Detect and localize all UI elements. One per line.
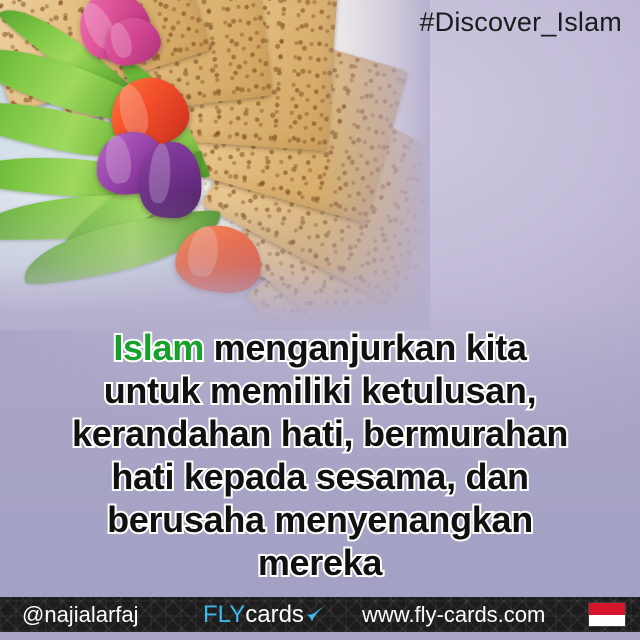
hashtag-label: #Discover_Islam [419,7,622,38]
flag-stripe-red [589,603,625,615]
quote-text: Islam menganjurkan kita untuk memiliki k… [0,326,640,584]
quote-line-5: berusaha menyenangkan [0,498,640,541]
quote-line-2: untuk memiliki ketulusan, [0,369,640,412]
islam-quote-card: #Discover_Islam Islam menganjurkan kita … [0,0,640,640]
bird-icon [305,601,333,623]
quote-line-4: hati kepada sesama, dan [0,455,640,498]
quote-line-3: kerandahan hati, bermurahan [0,412,640,455]
author-handle[interactable]: @najialarfaj [22,602,139,628]
website-url[interactable]: www.fly-cards.com [362,602,545,628]
quote-line-1: Islam menganjurkan kita [0,326,640,369]
quote-highlight-word: Islam [113,327,204,368]
footer-bar: @najialarfaj FLYcards www.fly-cards.com [0,597,640,632]
indonesia-flag-icon [588,602,626,627]
brand-cards-text: cards [245,601,304,629]
brand-fly-text: FLY [203,601,245,629]
flag-stripe-white [589,615,625,627]
bottom-edge-strip [0,632,640,640]
photo-contents [0,0,430,330]
flycards-logo[interactable]: FLYcards [203,601,333,629]
quote-line-6: mereka [0,541,640,584]
quote-line-1-rest: menganjurkan kita [214,327,527,368]
header-photo [0,0,430,330]
